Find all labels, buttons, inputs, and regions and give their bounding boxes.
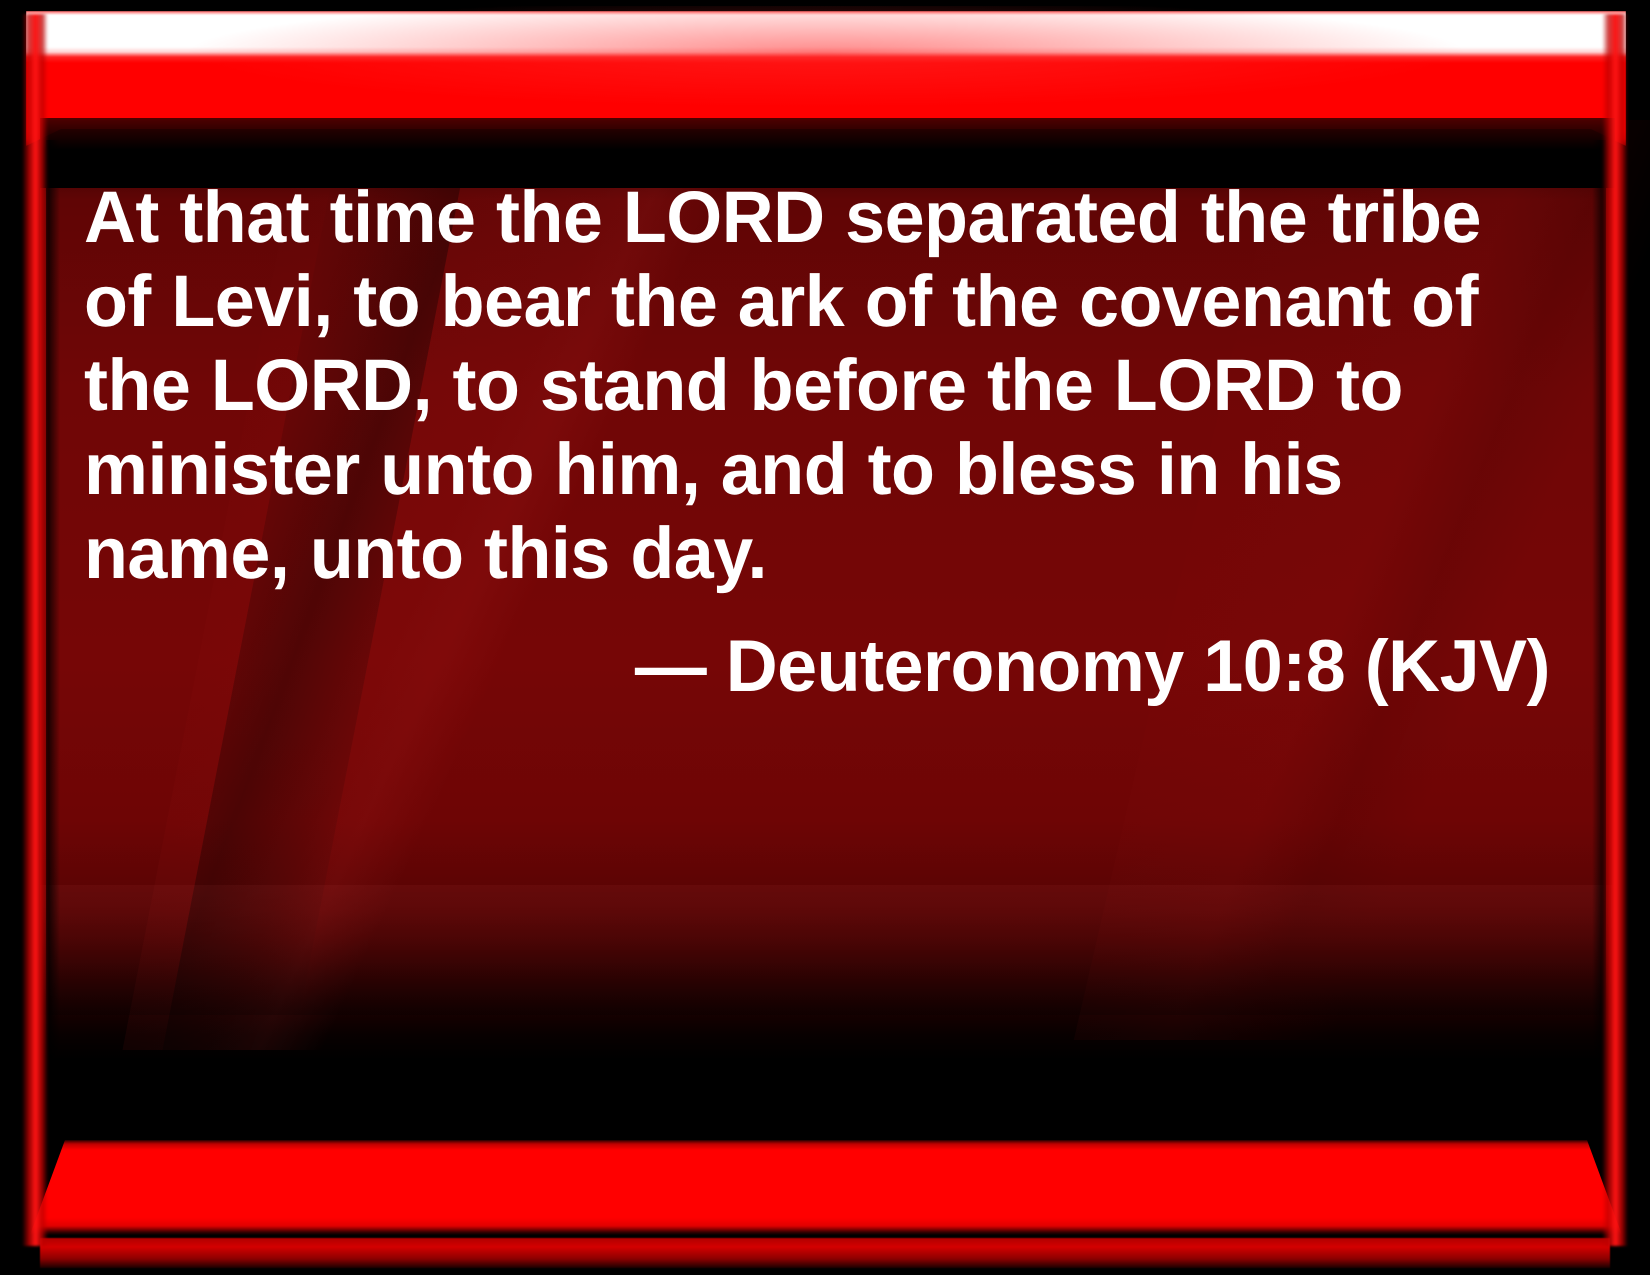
top-gloss-bar [26, 11, 1626, 146]
verse-citation: — Deuteronomy 10:8 (KJV) [106, 596, 1550, 709]
bottom-red-bar [30, 1140, 1622, 1235]
verse-text-block: At that time the LORD separated the trib… [84, 176, 1550, 709]
left-inner-seam [46, 140, 60, 1150]
verse-body-text: At that time the LORD separated the trib… [84, 176, 1528, 596]
right-red-edge-stripe [1602, 14, 1628, 1246]
bottom-red-bar-secondary [40, 1238, 1610, 1268]
left-red-edge-stripe [22, 14, 48, 1246]
verse-slide: At that time the LORD separated the trib… [0, 0, 1650, 1275]
